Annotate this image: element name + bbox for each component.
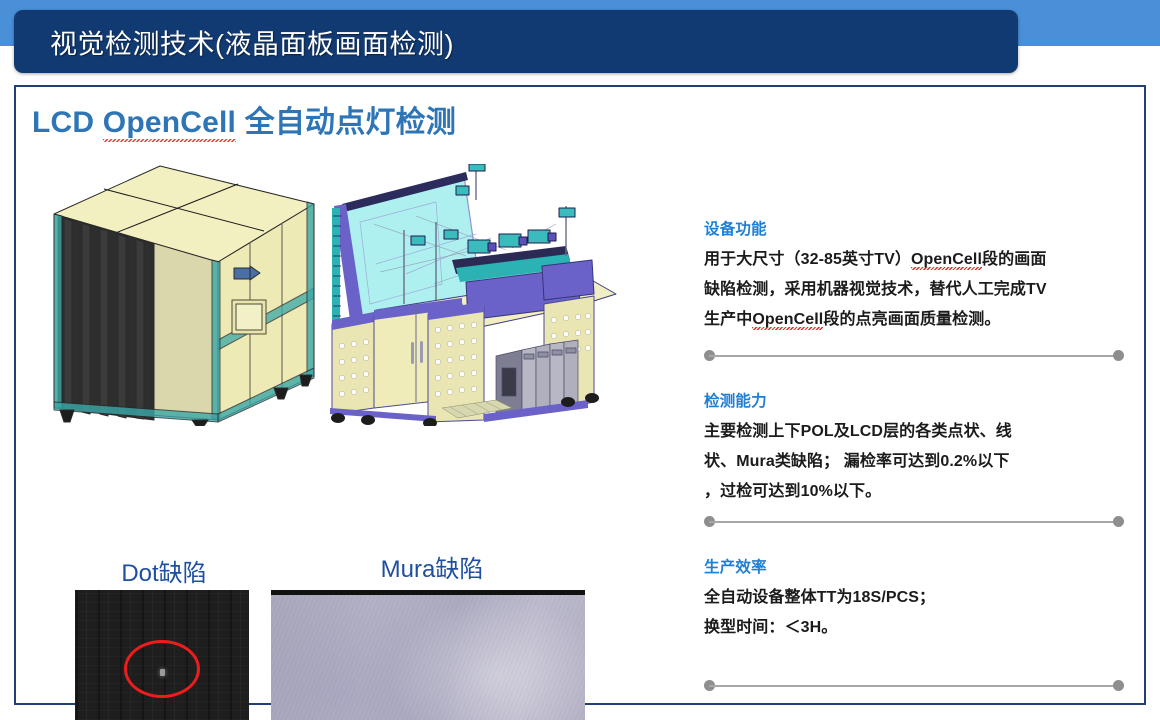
sample-image-dot-defect <box>75 590 249 720</box>
slide-title-spellchecked: OpenCell <box>103 106 236 139</box>
slide-title-prefix: LCD <box>32 106 103 139</box>
defect-annotation-ellipse <box>124 640 200 698</box>
info-line: ，过检可达到10%以下。 <box>704 477 1124 507</box>
info-heading: 检测能力 <box>704 389 1124 411</box>
divider-line <box>709 521 1119 523</box>
divider-dot-right <box>1113 680 1124 691</box>
info-block-equipment-function: 设备功能 用于大尺寸（32-85英寸TV）OpenCell段的画面 缺陷检测，采… <box>704 217 1124 335</box>
lighting-inspection-station-cad <box>316 164 636 426</box>
info-line: 换型时间：＜3H。 <box>704 613 1124 643</box>
illustration-zone <box>16 142 676 512</box>
slide-page: 视觉检测技术(液晶面板画面检测) LCD OpenCell 全自动点灯检测 <box>0 0 1160 720</box>
info-line: 生产中OpenCell段的点亮画面质量检测。 <box>704 305 1124 335</box>
slide-title: LCD OpenCell 全自动点灯检测 <box>32 97 456 141</box>
content-frame: LCD OpenCell 全自动点灯检测 <box>14 85 1146 705</box>
info-block-detection-capability: 检测能力 主要检测上下POL及LCD层的各类点状、线 状、Mura类缺陷； 漏检… <box>704 389 1124 507</box>
sample-label-dot: Dot缺陷 <box>78 553 250 588</box>
dark-room-booth-cad <box>42 158 328 426</box>
info-block-production-efficiency: 生产效率 全自动设备整体TT为18S/PCS； 换型时间：＜3H。 <box>704 555 1124 643</box>
divider-line <box>709 355 1119 357</box>
header-title-pill: 视觉检测技术(液晶面板画面检测) <box>14 10 1018 73</box>
page-title: 视觉检测技术(液晶面板画面检测) <box>50 22 454 61</box>
divider-dot-right <box>1113 350 1124 361</box>
section-divider <box>704 350 1124 361</box>
info-line: 全自动设备整体TT为18S/PCS； <box>704 583 1124 613</box>
info-line: 状、Mura类缺陷； 漏检率可达到0.2%以下 <box>704 447 1124 477</box>
mura-panel-surface <box>271 595 585 720</box>
info-heading: 设备功能 <box>704 217 1124 239</box>
divider-dot-right <box>1113 516 1124 527</box>
sample-image-mura-defect <box>271 590 585 720</box>
divider-line <box>709 685 1119 687</box>
info-line: 缺陷检测，采用机器视觉技术，替代人工完成TV <box>704 275 1124 305</box>
info-line: 主要检测上下POL及LCD层的各类点状、线 <box>704 417 1124 447</box>
info-body: 用于大尺寸（32-85英寸TV）OpenCell段的画面 缺陷检测，采用机器视觉… <box>704 245 1124 335</box>
info-body: 全自动设备整体TT为18S/PCS； 换型时间：＜3H。 <box>704 583 1124 643</box>
section-divider <box>704 516 1124 527</box>
info-body: 主要检测上下POL及LCD层的各类点状、线 状、Mura类缺陷； 漏检率可达到0… <box>704 417 1124 507</box>
info-line: 用于大尺寸（32-85英寸TV）OpenCell段的画面 <box>704 245 1124 275</box>
sample-label-mura: Mura缺陷 <box>272 549 592 584</box>
slide-title-suffix: 全自动点灯检测 <box>236 106 456 139</box>
info-heading: 生产效率 <box>704 555 1124 577</box>
section-divider <box>704 680 1124 691</box>
